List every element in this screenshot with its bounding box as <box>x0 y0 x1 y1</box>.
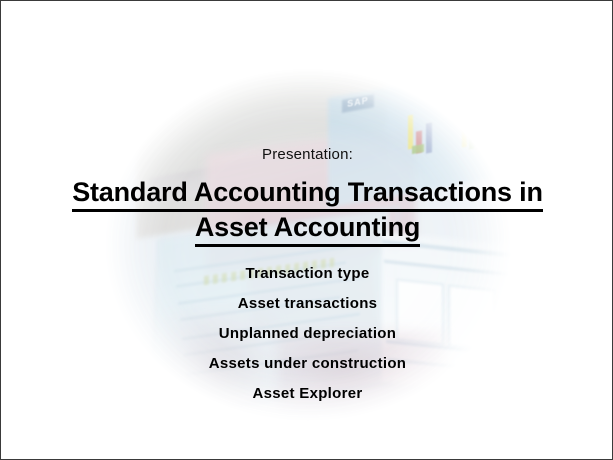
agenda-item: Asset Explorer <box>1 379 613 409</box>
agenda-item: Asset transactions <box>1 289 613 319</box>
presentation-slide: SAP <box>0 0 613 460</box>
slide-title: Standard Accounting Transactions in Asse… <box>1 177 613 247</box>
slide-title-line-2: Asset Accounting <box>1 212 613 247</box>
slide-title-line-1: Standard Accounting Transactions in <box>1 177 613 212</box>
agenda-item: Unplanned depreciation <box>1 319 613 349</box>
agenda-list: Transaction type Asset transactions Unpl… <box>1 259 613 409</box>
slide-content: Presentation: Standard Accounting Transa… <box>1 1 613 460</box>
agenda-item: Assets under construction <box>1 349 613 379</box>
presentation-label: Presentation: <box>1 146 613 163</box>
agenda-item: Transaction type <box>1 259 613 289</box>
